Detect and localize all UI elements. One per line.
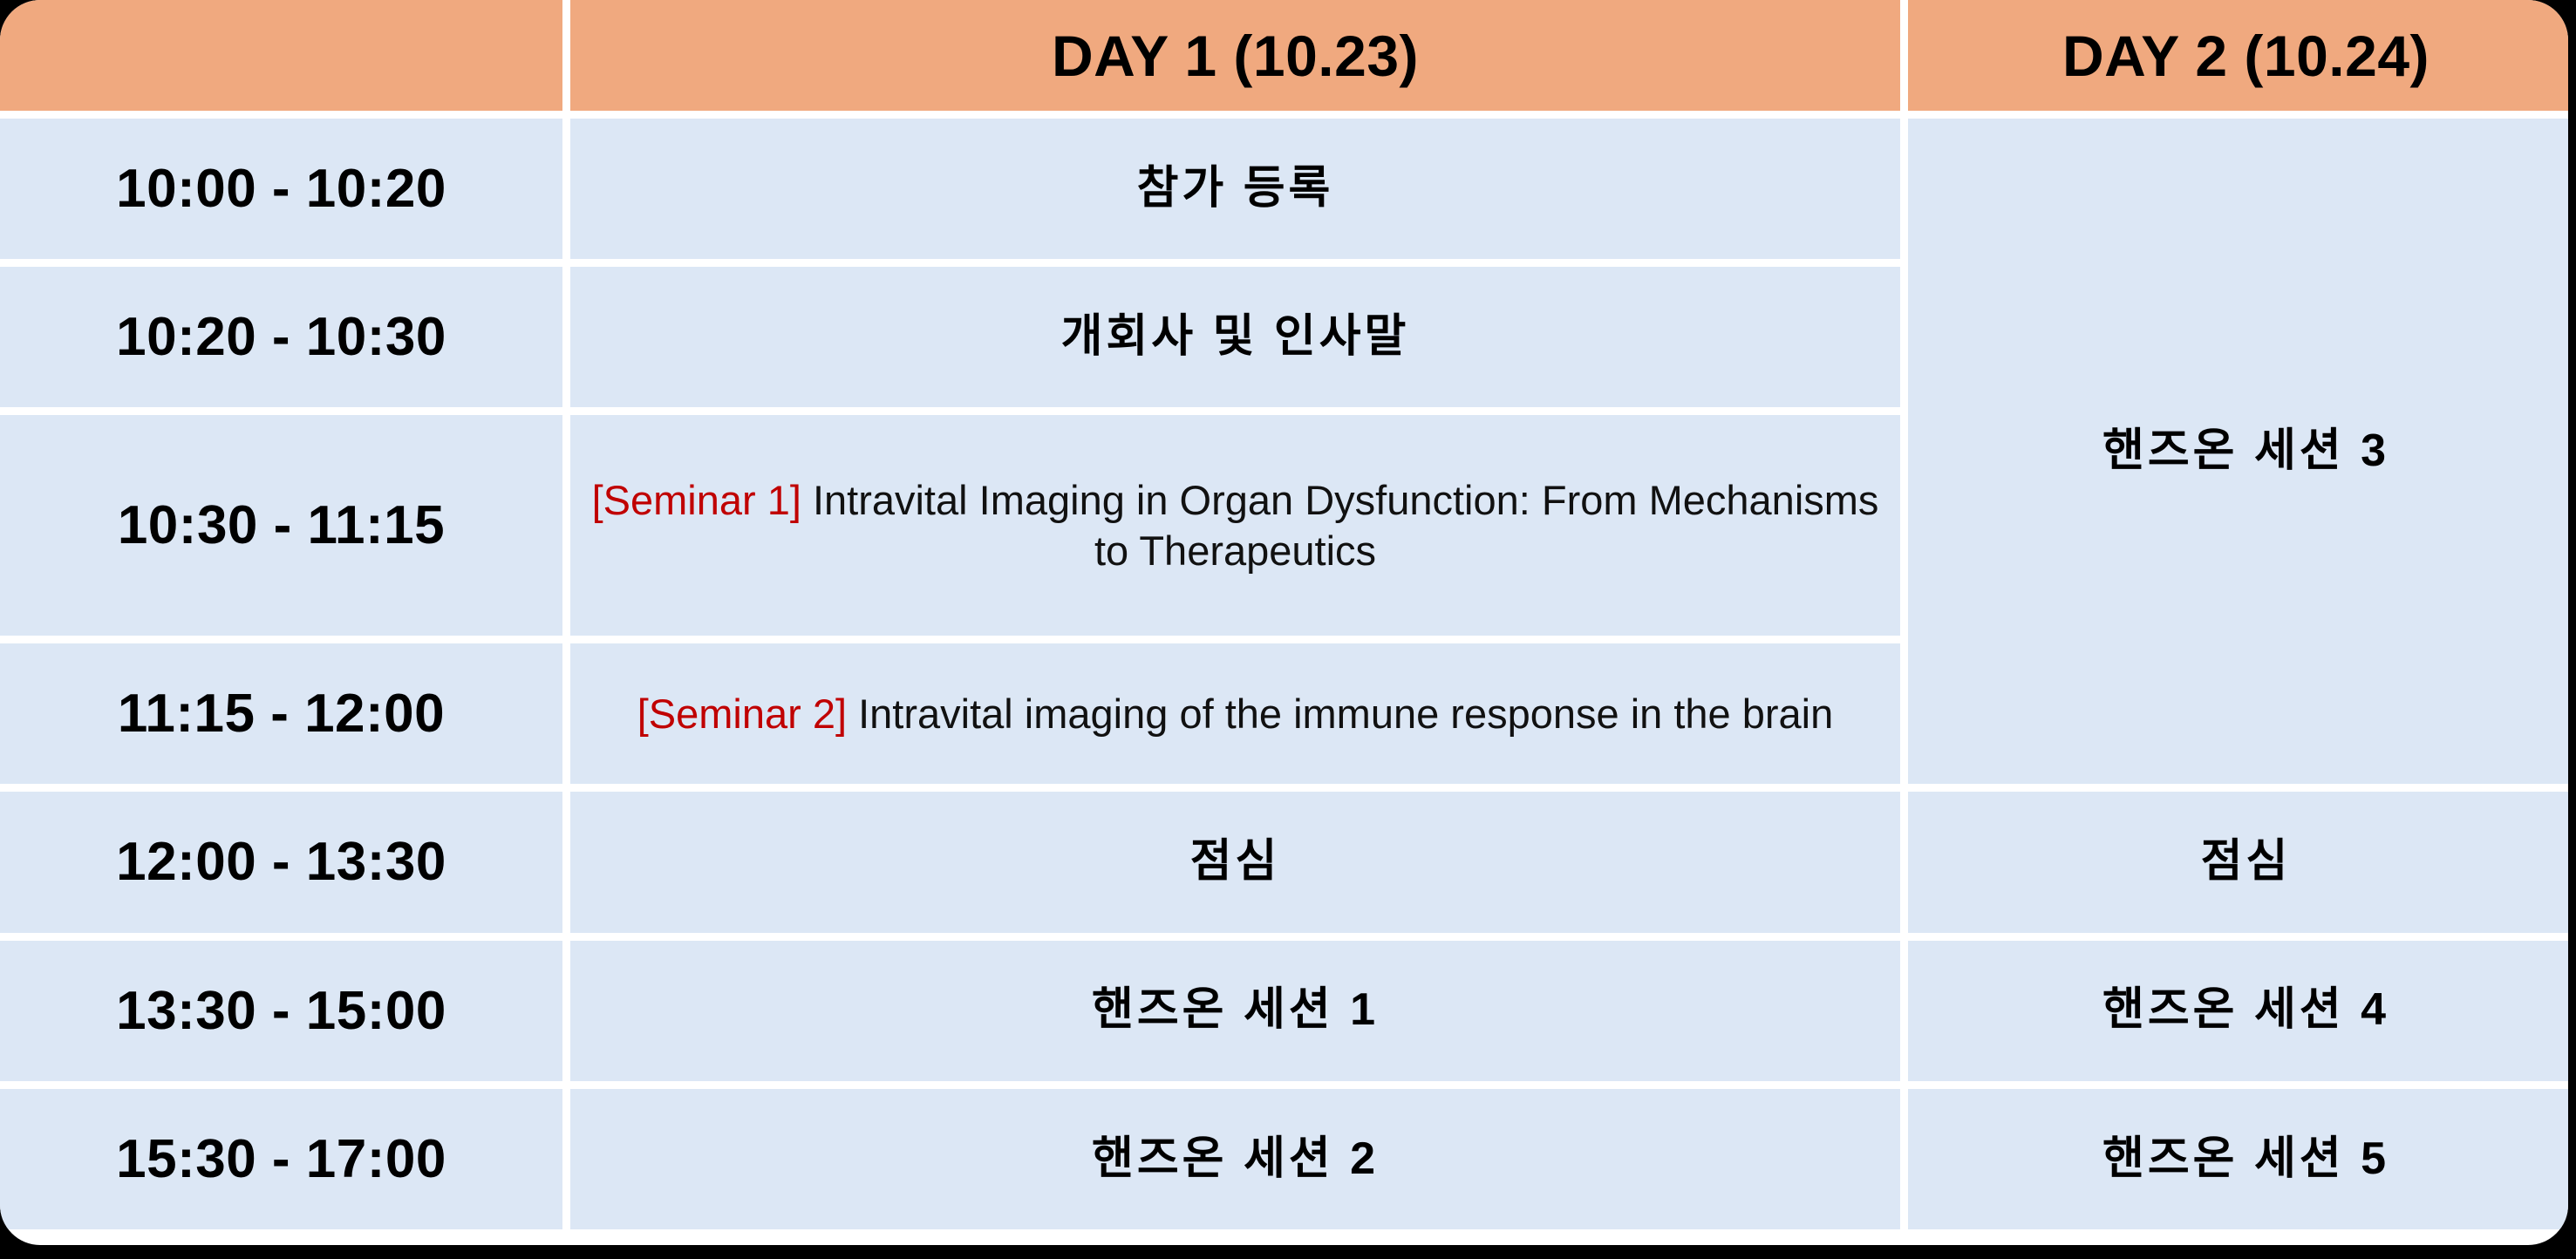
day2-session: 핸즈온 세션 4 [1908,941,2568,1081]
schedule-table: DAY 1 (10.23) DAY 2 (10.24) 10:00 - 10:2… [0,0,2568,1237]
seminar-tag: [Seminar 2] [637,691,847,737]
time-slot: 11:15 - 12:00 [0,643,562,784]
header-cell-time [0,0,562,111]
day1-session: 핸즈온 세션 1 [570,941,1900,1081]
table-row: 10:00 - 10:20 참가 등록 핸즈온 세션 3 [0,119,2568,259]
time-slot: 15:30 - 17:00 [0,1089,562,1229]
time-slot: 13:30 - 15:00 [0,941,562,1081]
header-cell-day2: DAY 2 (10.24) [1908,0,2568,111]
table-row: 12:00 - 13:30 점심 점심 [0,792,2568,932]
schedule-card: DAY 1 (10.23) DAY 2 (10.24) 10:00 - 10:2… [0,0,2568,1245]
time-slot: 10:20 - 10:30 [0,267,562,407]
seminar-title: Intravital Imaging in Organ Dysfunction:… [801,477,1879,573]
day1-session: 점심 [570,792,1900,932]
day2-session: 핸즈온 세션 5 [1908,1089,2568,1229]
day1-session: 개회사 및 인사말 [570,267,1900,407]
table-header-row: DAY 1 (10.23) DAY 2 (10.24) [0,0,2568,111]
day1-seminar: [Seminar 2] Intravital imaging of the im… [570,643,1900,784]
seminar-title: Intravital imaging of the immune respons… [847,691,1833,737]
day1-session: 핸즈온 세션 2 [570,1089,1900,1229]
day2-session-merged: 핸즈온 세션 3 [1908,119,2568,784]
table-row: 13:30 - 15:00 핸즈온 세션 1 핸즈온 세션 4 [0,941,2568,1081]
table-row: 15:30 - 17:00 핸즈온 세션 2 핸즈온 세션 5 [0,1089,2568,1229]
day1-seminar: [Seminar 1] Intravital Imaging in Organ … [570,415,1900,636]
seminar-tag: [Seminar 1] [592,477,801,523]
header-cell-day1: DAY 1 (10.23) [570,0,1900,111]
time-slot: 10:30 - 11:15 [0,415,562,636]
time-slot: 12:00 - 13:30 [0,792,562,932]
day1-session: 참가 등록 [570,119,1900,259]
day2-session: 점심 [1908,792,2568,932]
time-slot: 10:00 - 10:20 [0,119,562,259]
